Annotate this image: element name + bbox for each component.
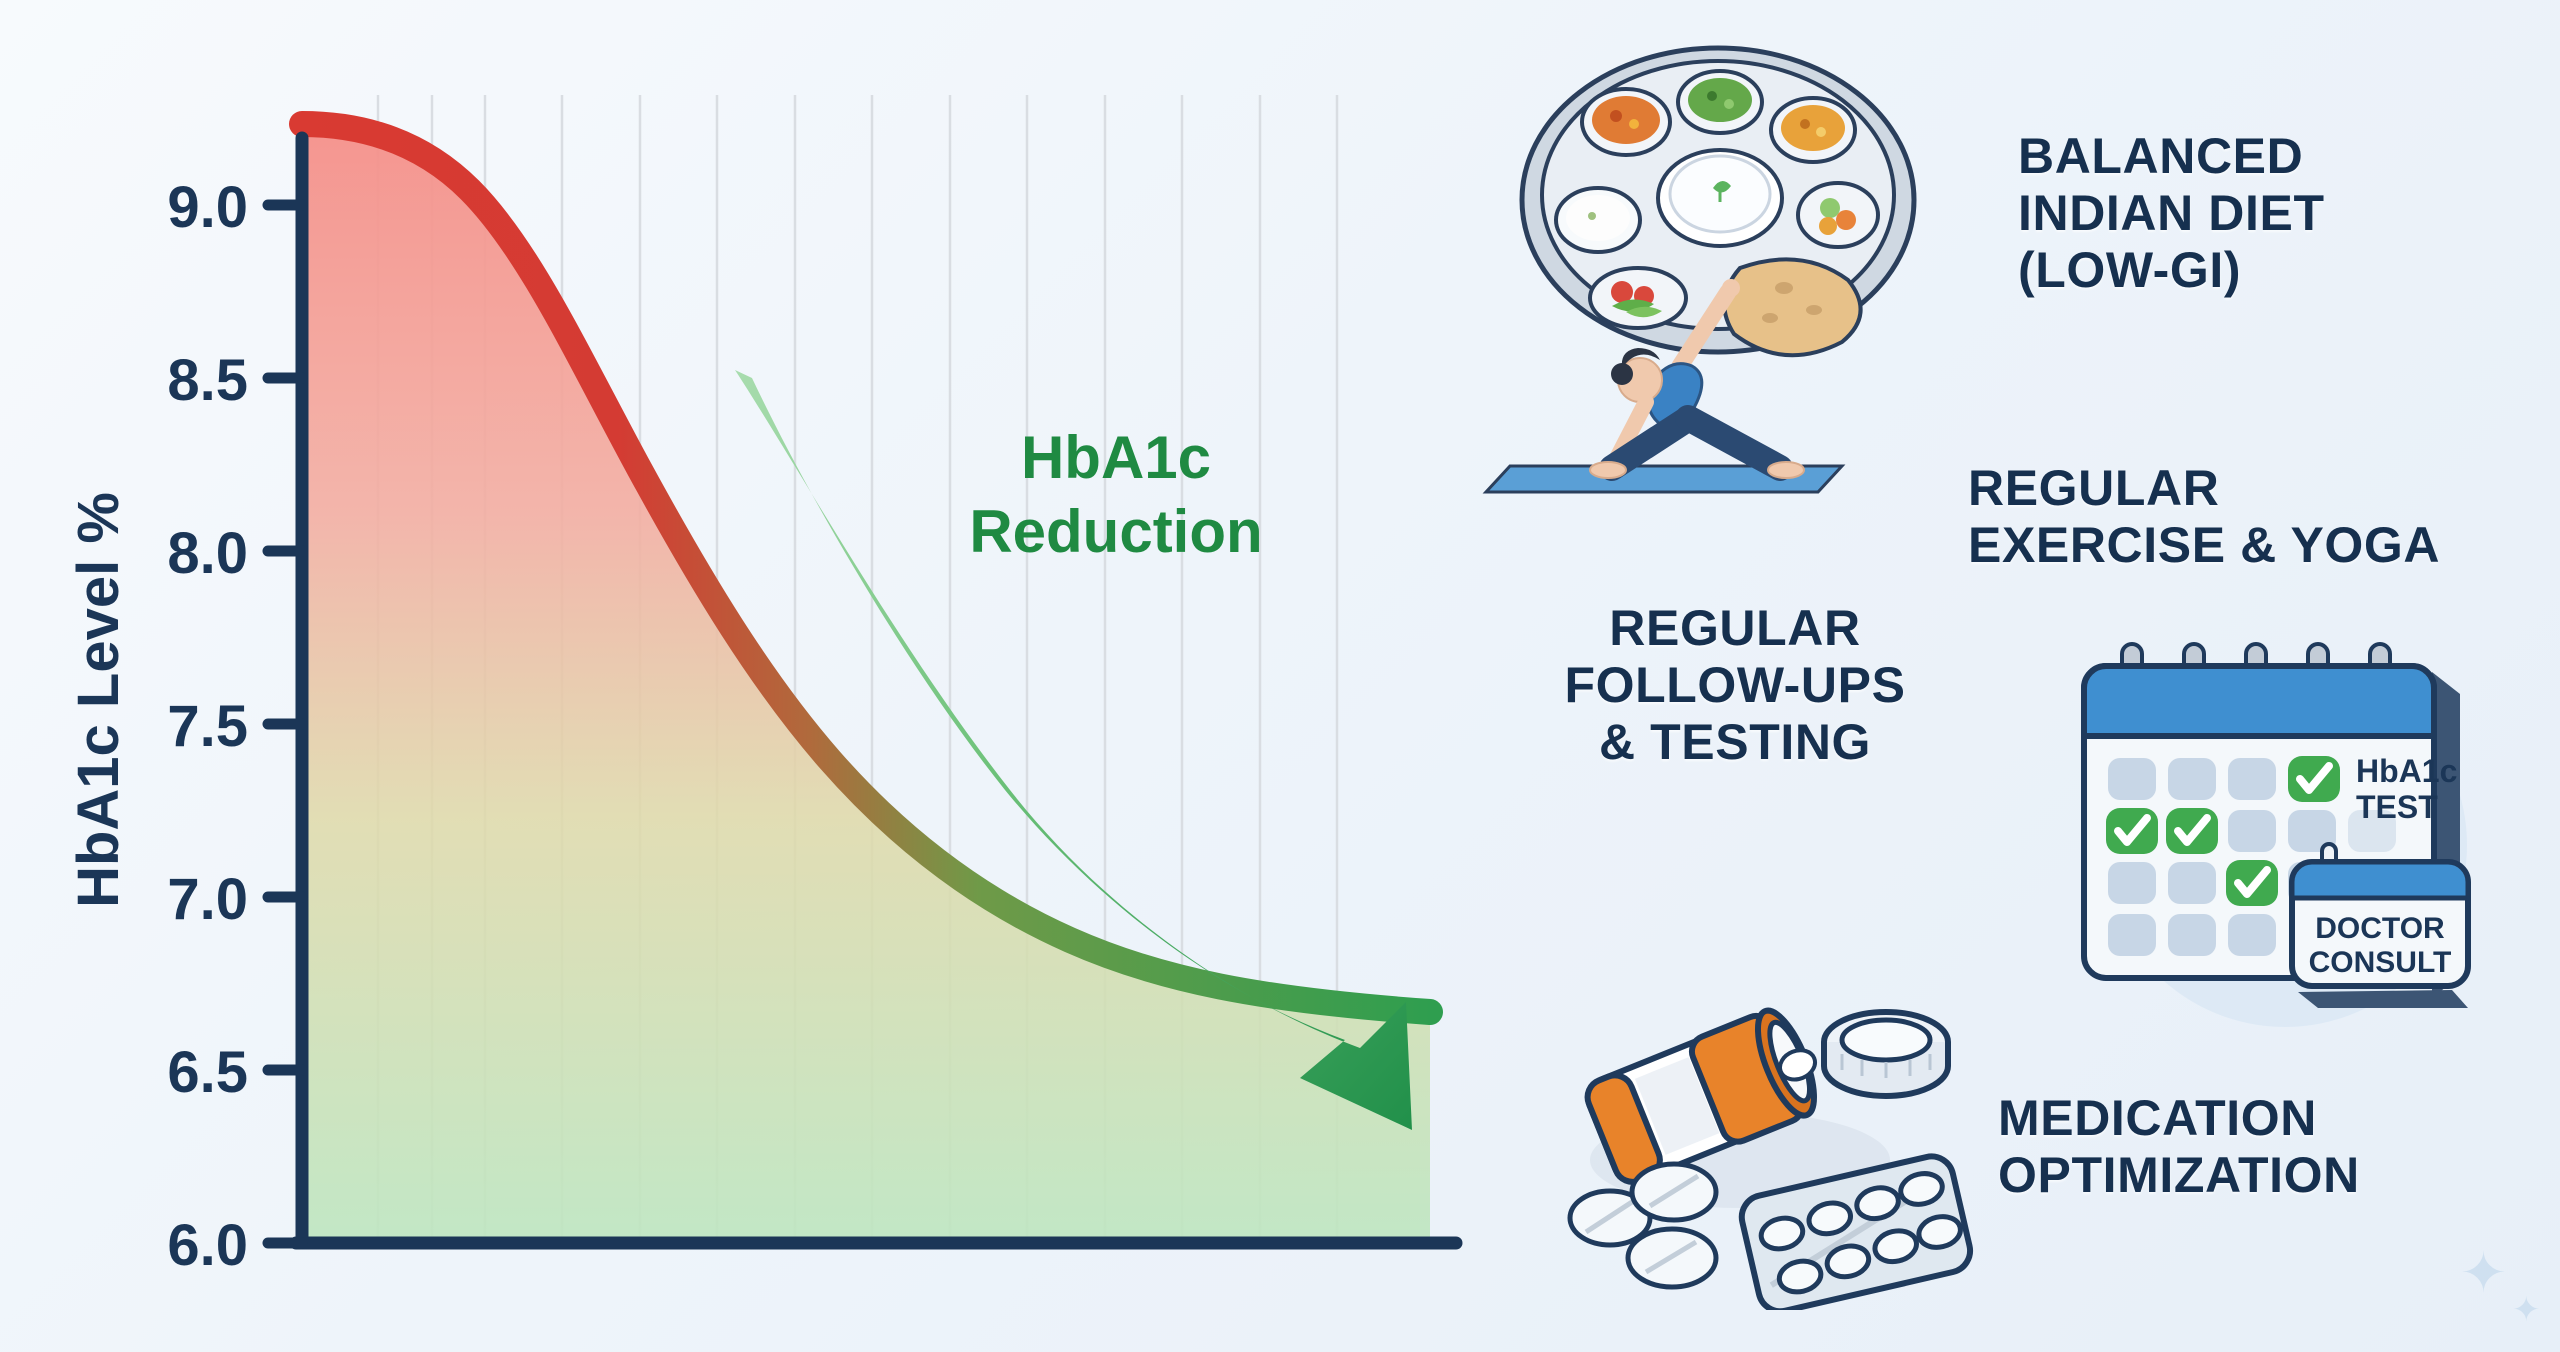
item-label-exercise: REGULAR EXERCISE & YOGA	[1968, 460, 2508, 574]
diet-line1: BALANCED	[2018, 128, 2488, 185]
chart-svg: 9.0 8.5 8.0 7.5 7.0 6.5 6.0 HbA1c Level …	[0, 0, 1500, 1352]
y-tick-label: 6.5	[167, 1040, 248, 1105]
y-tick-label: 7.5	[167, 694, 248, 759]
calendar-badge-line2: TEST	[2356, 789, 2438, 825]
y-tick-label: 7.0	[167, 867, 248, 932]
y-axis-title: HbA1c Level %	[66, 492, 131, 908]
calendar-badge-line1: HbA1c	[2356, 753, 2457, 789]
calendar-tag-line1: DOCTOR	[2315, 912, 2445, 945]
yoga-pose-icon	[1480, 270, 1900, 500]
recommendations-panel: BALANCED INDIAN DIET (LOW-GI)	[1460, 0, 2560, 1352]
sparkle-icon-small: ✦	[2512, 1290, 2541, 1330]
infographic-canvas: 9.0 8.5 8.0 7.5 7.0 6.5 6.0 HbA1c Level …	[0, 0, 2560, 1352]
reduction-arrow-label: HbA1c Reduction	[969, 424, 1262, 565]
calendar-icon: HbA1c TEST DOCTOR CONSULT	[2060, 630, 2540, 1030]
chart-y-tick-labels: 9.0 8.5 8.0 7.5 7.0 6.5 6.0	[167, 175, 248, 1278]
followup-line3: & TESTING	[1500, 714, 1970, 771]
item-label-followup: REGULAR FOLLOW-UPS & TESTING	[1500, 600, 1970, 771]
diet-line3: (LOW-GI)	[2018, 242, 2488, 299]
exercise-line2: EXERCISE & YOGA	[1968, 517, 2508, 574]
y-tick-label: 8.5	[167, 348, 248, 413]
arrow-label-line2: Reduction	[969, 498, 1262, 565]
calendar-tag-line2: CONSULT	[2309, 946, 2452, 979]
item-label-diet: BALANCED INDIAN DIET (LOW-GI)	[2018, 128, 2488, 299]
pill-bottle-icon	[1550, 970, 1990, 1310]
medication-line1: MEDICATION	[1998, 1090, 2518, 1147]
y-tick-label: 6.0	[167, 1213, 248, 1278]
medication-line2: OPTIMIZATION	[1998, 1147, 2518, 1204]
exercise-line1: REGULAR	[1968, 460, 2508, 517]
y-tick-label: 8.0	[167, 521, 248, 586]
diet-line2: INDIAN DIET	[2018, 185, 2488, 242]
y-tick-label: 9.0	[167, 175, 248, 240]
arrow-label-line1: HbA1c	[1021, 424, 1211, 491]
sparkle-icon: ✦	[2460, 1240, 2507, 1306]
followup-line2: FOLLOW-UPS	[1500, 657, 1970, 714]
followup-line1: REGULAR	[1500, 600, 1970, 657]
item-label-medication: MEDICATION OPTIMIZATION	[1998, 1090, 2518, 1204]
hba1c-chart: 9.0 8.5 8.0 7.5 7.0 6.5 6.0 HbA1c Level …	[0, 0, 1500, 1352]
